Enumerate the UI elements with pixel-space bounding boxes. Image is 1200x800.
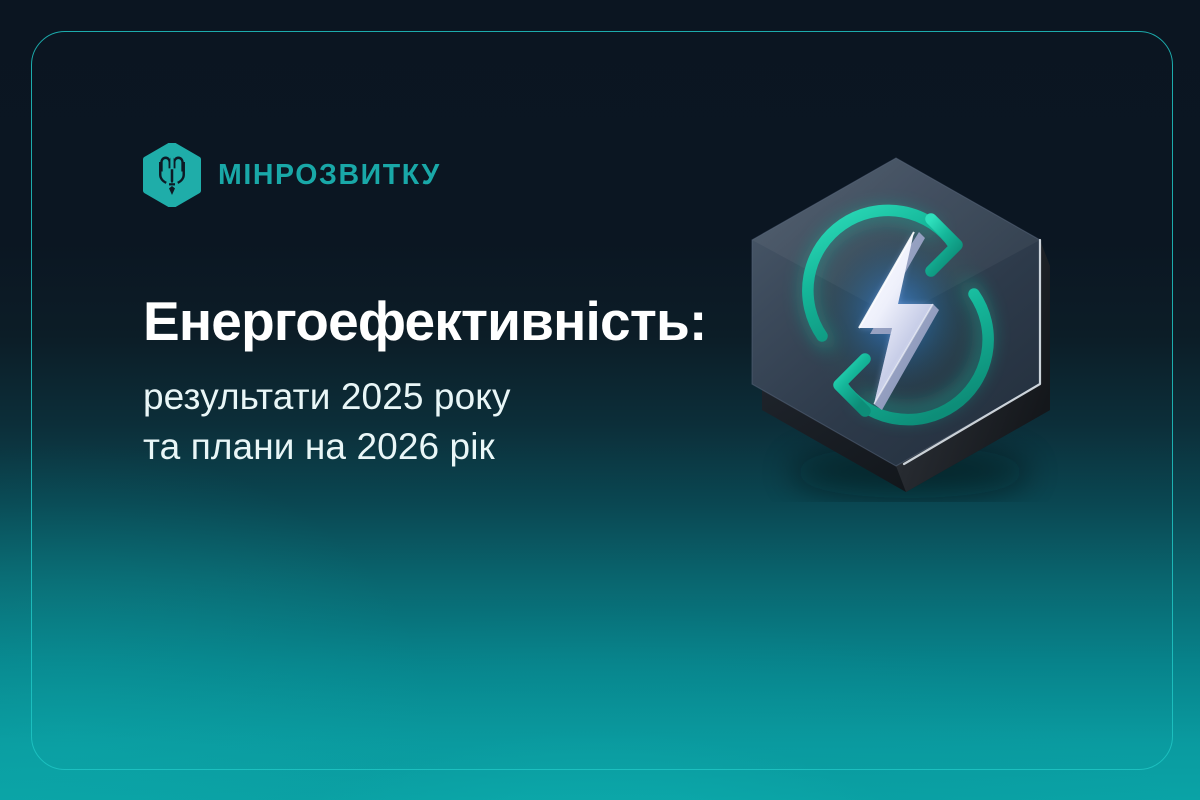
ministry-logo-text: МІНРОЗВИТКУ <box>218 161 441 190</box>
energy-efficiency-badge-icon <box>718 122 1098 502</box>
page-subtitle: результати 2025 року та плани на 2026 рі… <box>143 372 763 473</box>
page-subtitle-line-1: результати 2025 року <box>143 372 763 422</box>
headline-block: Енергоефективність: результати 2025 року… <box>143 292 763 472</box>
ukraine-trident-hexagon-icon <box>143 143 201 207</box>
page-subtitle-line-2: та плани на 2026 рік <box>143 422 763 472</box>
page-title: Енергоефективність: <box>143 292 763 351</box>
slide-cover: МІНРОЗВИТКУ Енергоефективність: результа… <box>0 0 1200 800</box>
ministry-logo: МІНРОЗВИТКУ <box>143 143 441 207</box>
